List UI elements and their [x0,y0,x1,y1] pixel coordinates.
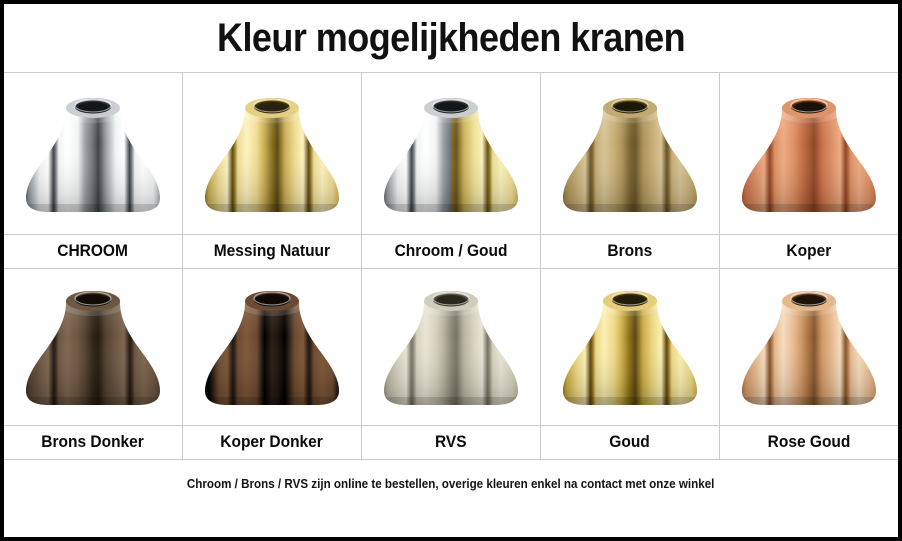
color-label: Rose Goud [768,433,851,452]
product-row-1 [4,73,898,235]
color-label: CHROOM [58,242,129,261]
color-label-cell: Brons [541,235,720,268]
tap-escutcheon-bell-icon [196,281,348,413]
tap-escutcheon-bell-icon [375,88,527,220]
label-row-2: Brons DonkerKoper DonkerRVSGoudRose Goud [4,426,898,460]
tap-escutcheon-bell-icon [196,88,348,220]
color-label: Brons Donker [42,433,145,452]
color-label-cell: CHROOM [4,235,183,268]
color-swatch-cell[interactable] [362,73,541,234]
color-options-poster: Kleur mogelijkheden kranen CHROOMMessing… [0,0,902,541]
footer-note-row: Chroom / Brons / RVS zijn online te best… [4,460,898,537]
tap-escutcheon-bell-icon [554,281,706,413]
color-label-cell: Brons Donker [4,426,183,459]
tap-escutcheon-bell-icon [733,88,885,220]
tap-escutcheon-bell-icon [733,281,885,413]
color-swatch-cell[interactable] [4,269,183,425]
tap-escutcheon-bell-icon [375,281,527,413]
color-label-cell: Goud [541,426,720,459]
color-label: Brons [608,242,653,261]
tap-escutcheon-bell-icon [554,88,706,220]
tap-escutcheon-bell-icon [17,88,169,220]
tap-escutcheon-bell-icon [17,281,169,413]
color-label: Koper [787,242,832,261]
color-label: RVS [435,433,467,452]
footer-note: Chroom / Brons / RVS zijn online te best… [187,477,715,491]
color-label-cell: Rose Goud [720,426,898,459]
color-swatch-cell[interactable] [720,269,898,425]
color-swatch-cell[interactable] [541,269,720,425]
label-row-1: CHROOMMessing NatuurChroom / GoudBronsKo… [4,235,898,269]
color-swatch-cell[interactable] [4,73,183,234]
color-swatch-cell[interactable] [183,269,362,425]
color-grid: CHROOMMessing NatuurChroom / GoudBronsKo… [4,73,898,537]
color-label: Chroom / Goud [395,242,508,261]
color-label-cell: Koper [720,235,898,268]
color-swatch-cell[interactable] [541,73,720,234]
color-label: Goud [610,433,650,452]
color-label: Koper Donker [221,433,324,452]
page-title-row: Kleur mogelijkheden kranen [4,4,898,73]
color-label-cell: Chroom / Goud [362,235,541,268]
page-title: Kleur mogelijkheden kranen [217,16,685,61]
product-row-2 [4,269,898,426]
color-swatch-cell[interactable] [720,73,898,234]
color-swatch-cell[interactable] [183,73,362,234]
color-label-cell: RVS [362,426,541,459]
color-label: Messing Natuur [214,242,330,261]
color-swatch-cell[interactable] [362,269,541,425]
color-label-cell: Messing Natuur [183,235,362,268]
color-label-cell: Koper Donker [183,426,362,459]
